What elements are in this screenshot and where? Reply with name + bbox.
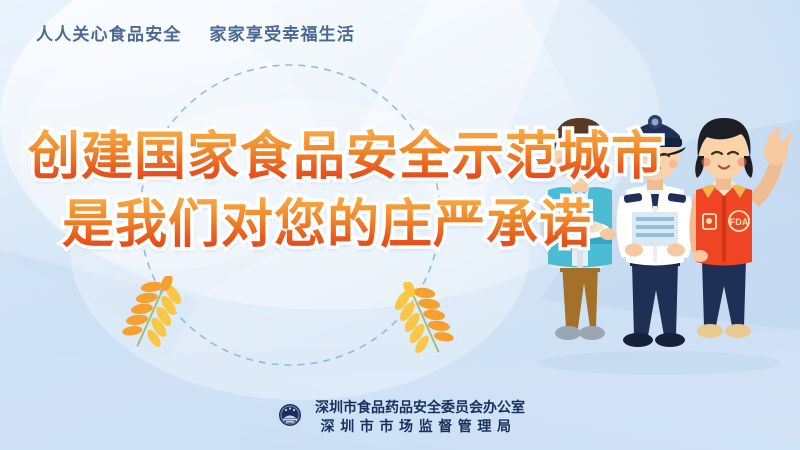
- slogan-part-1: 人人关心食品安全: [36, 25, 182, 44]
- headline-line-2: 是我们对您的庄严承诺 是我们对您的庄严承诺: [0, 194, 540, 256]
- headline-line-2-fill: 是我们对您的庄严承诺: [62, 194, 592, 255]
- headline-line-1: 创建国家食品安全示范城市 创建国家食品安全示范城市: [0, 126, 540, 188]
- slogan-part-2: 家家享受幸福生活: [209, 25, 355, 44]
- wheat-sprig-right-icon: [388, 282, 458, 367]
- government-emblem-icon: [275, 401, 305, 433]
- organization-names: 深圳市食品药品安全委员会办公室 深圳市市场监督管理局: [315, 398, 525, 436]
- top-slogan: 人人关心食品安全 家家享受幸福生活: [36, 20, 355, 45]
- svg-text:FDA: FDA: [730, 217, 749, 227]
- org-line-1: 深圳市食品药品安全委员会办公室: [315, 398, 525, 417]
- figure-market-inspector: FDA: [689, 118, 790, 338]
- headline-line-1-fill: 创建国家食品安全示范城市: [28, 126, 664, 187]
- org-line-2: 深圳市市场监督管理局: [315, 417, 525, 436]
- wheat-sprig-left-icon: [118, 276, 188, 361]
- page-title: 创建国家食品安全示范城市 创建国家食品安全示范城市 是我们对您的庄严承诺 是我们…: [0, 126, 540, 256]
- poster-canvas: 人人关心食品安全 家家享受幸福生活 创建国家食品安全示范城市 创建国家食品安全示…: [0, 0, 800, 450]
- footer-organization: 深圳市食品药品安全委员会办公室 深圳市市场监督管理局: [0, 398, 800, 436]
